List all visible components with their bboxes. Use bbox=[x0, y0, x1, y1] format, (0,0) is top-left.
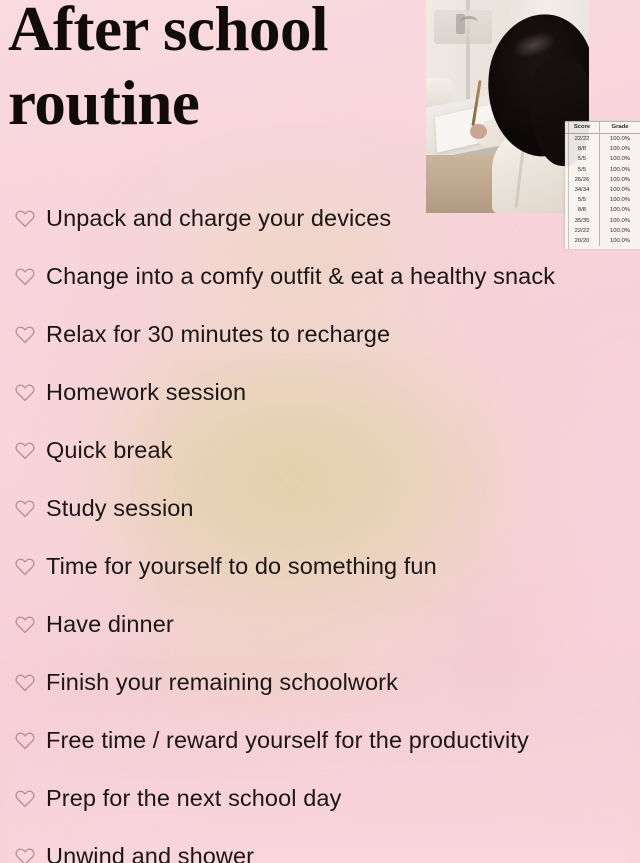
checklist-item[interactable]: Free time / reward yourself for the prod… bbox=[0, 711, 640, 769]
heart-outline-icon[interactable] bbox=[14, 614, 36, 634]
checklist-item[interactable]: Relax for 30 minutes to recharge bbox=[0, 305, 640, 363]
checklist-item-label: Free time / reward yourself for the prod… bbox=[46, 727, 529, 754]
heart-outline-icon[interactable] bbox=[14, 440, 36, 460]
grade-table-score-cell: 22/22 bbox=[565, 134, 600, 144]
grade-table-row: 26/26100.0% bbox=[565, 175, 640, 185]
checklist-item-label: Unpack and charge your devices bbox=[46, 205, 391, 232]
grade-table-grade-cell: 100.0% bbox=[600, 154, 640, 164]
checklist-item[interactable]: Finish your remaining schoolwork bbox=[0, 653, 640, 711]
grade-table-row: 22/22100.0% bbox=[565, 134, 640, 144]
grade-table-header-row: Score Grade bbox=[565, 122, 640, 134]
checklist-item-label: Time for yourself to do something fun bbox=[46, 553, 437, 580]
heart-outline-icon[interactable] bbox=[14, 672, 36, 692]
photo-lamp-icon bbox=[460, 16, 478, 29]
checklist-item[interactable]: Quick break bbox=[0, 421, 640, 479]
checklist-item-label: Have dinner bbox=[46, 611, 174, 638]
checklist-item-label: Unwind and shower bbox=[46, 843, 254, 863]
after-school-routine-card: After school routine Score Grade 22/2210… bbox=[0, 0, 640, 863]
heart-outline-icon[interactable] bbox=[14, 730, 36, 750]
checklist-item-label: Quick break bbox=[46, 437, 172, 464]
heart-outline-icon[interactable] bbox=[14, 498, 36, 518]
grade-table-score-cell: 5/5 bbox=[565, 165, 600, 175]
heart-outline-icon[interactable] bbox=[14, 382, 36, 402]
grade-table-grade-cell: 100.0% bbox=[600, 134, 640, 144]
grade-table-grade-cell: 100.0% bbox=[600, 175, 640, 185]
checklist-item-label: Change into a comfy outfit & eat a healt… bbox=[46, 263, 555, 290]
checklist-item[interactable]: Prep for the next school day bbox=[0, 769, 640, 827]
checklist-item[interactable]: Unwind and shower bbox=[0, 827, 640, 863]
page-title: After school routine bbox=[8, 0, 438, 141]
checklist-item-label: Finish your remaining schoolwork bbox=[46, 669, 398, 696]
checklist-item-label: Homework session bbox=[46, 379, 246, 406]
checklist-item-label: Relax for 30 minutes to recharge bbox=[46, 321, 390, 348]
heart-outline-icon[interactable] bbox=[14, 324, 36, 344]
grade-table-row: 5/5100.0% bbox=[565, 165, 640, 175]
heart-outline-icon[interactable] bbox=[14, 846, 36, 863]
checklist-item[interactable]: Time for yourself to do something fun bbox=[0, 537, 640, 595]
grade-table-row: 8/8100.0% bbox=[565, 144, 640, 154]
photo-shelf bbox=[434, 10, 492, 44]
heart-outline-icon[interactable] bbox=[14, 266, 36, 286]
checklist-item[interactable]: Study session bbox=[0, 479, 640, 537]
checklist-item[interactable]: Change into a comfy outfit & eat a healt… bbox=[0, 247, 640, 305]
checklist-item[interactable]: Homework session bbox=[0, 363, 640, 421]
grade-table-grade-cell: 100.0% bbox=[600, 165, 640, 175]
checklist-item-label: Study session bbox=[46, 495, 194, 522]
heart-outline-icon[interactable] bbox=[14, 788, 36, 808]
checklist-item-label: Prep for the next school day bbox=[46, 785, 341, 812]
grade-table-header-grade: Grade bbox=[600, 122, 640, 133]
grade-table-score-cell: 26/26 bbox=[565, 175, 600, 185]
grade-table-score-cell: 8/8 bbox=[565, 144, 600, 154]
heart-outline-icon[interactable] bbox=[14, 556, 36, 576]
checklist-item[interactable]: Unpack and charge your devices bbox=[0, 189, 640, 247]
routine-checklist: Unpack and charge your devicesChange int… bbox=[0, 189, 640, 863]
photo-hand bbox=[470, 124, 487, 139]
heart-outline-icon[interactable] bbox=[14, 208, 36, 228]
grade-table-header-score: Score bbox=[565, 122, 600, 133]
checklist-item[interactable]: Have dinner bbox=[0, 595, 640, 653]
grade-table-grade-cell: 100.0% bbox=[600, 144, 640, 154]
grade-table-row: 5/5100.0% bbox=[565, 154, 640, 164]
grade-table-score-cell: 5/5 bbox=[565, 154, 600, 164]
